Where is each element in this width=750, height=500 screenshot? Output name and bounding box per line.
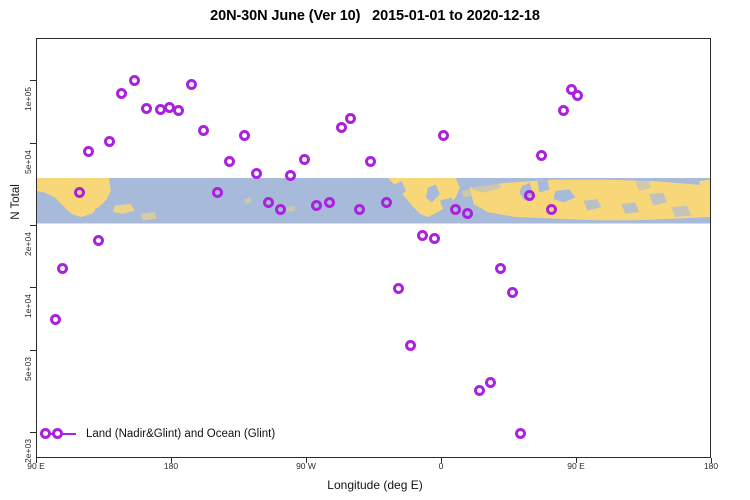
data-point	[524, 190, 535, 201]
data-point	[405, 340, 416, 351]
data-point	[336, 122, 347, 133]
data-point	[507, 287, 518, 298]
legend-label: Land (Nadir&Glint) and Ocean (Glint)	[86, 428, 275, 440]
figure-canvas: 20N-30N June (Ver 10) 2015-01-01 to 2020…	[0, 0, 750, 500]
data-point	[558, 105, 569, 116]
data-point	[50, 314, 61, 325]
x-tick-label: 0	[439, 461, 444, 471]
y-axis-label: N Total	[10, 162, 22, 242]
x-tick-label: 90 E	[27, 461, 45, 471]
data-point	[572, 90, 583, 101]
data-point	[104, 136, 115, 147]
x-tick-label: 180	[164, 461, 178, 471]
data-point	[495, 263, 506, 274]
world-map-svg	[37, 178, 710, 224]
data-point	[212, 187, 223, 198]
data-point	[345, 113, 356, 124]
data-point	[57, 263, 68, 274]
data-point	[74, 187, 85, 198]
data-point	[251, 168, 262, 179]
data-point	[263, 197, 274, 208]
x-tick-label: 90 W	[296, 461, 316, 471]
data-point	[417, 230, 428, 241]
world-map-band	[37, 178, 710, 224]
data-point	[462, 208, 473, 219]
data-point	[129, 75, 140, 86]
legend-circle-icon	[52, 428, 63, 439]
data-point	[393, 283, 404, 294]
legend-marker-sample	[38, 427, 78, 441]
data-point	[275, 204, 286, 215]
data-point	[224, 156, 235, 167]
y-tick-label: 2e+04	[23, 224, 33, 264]
data-point	[93, 235, 104, 246]
data-point	[429, 233, 440, 244]
page-title: 20N-30N June (Ver 10) 2015-01-01 to 2020…	[0, 8, 750, 24]
data-point	[173, 105, 184, 116]
data-point	[324, 197, 335, 208]
plot-area	[36, 38, 711, 458]
y-tick-label: 1e+05	[23, 79, 33, 119]
data-point	[485, 377, 496, 388]
y-tick-label: 5e+03	[23, 349, 33, 389]
data-point	[515, 428, 526, 439]
chart-legend: Land (Nadir&Glint) and Ocean (Glint)	[38, 426, 275, 442]
x-axis-label: Longitude (deg E)	[0, 478, 750, 492]
y-tick-label: 1e+04	[23, 286, 33, 326]
data-point	[198, 125, 209, 136]
data-point	[239, 130, 250, 141]
data-point	[365, 156, 376, 167]
x-tick-label: 90 E	[567, 461, 585, 471]
data-point	[116, 88, 127, 99]
x-tick-label: 180	[704, 461, 718, 471]
legend-circle-icon	[40, 428, 51, 439]
data-point	[83, 146, 94, 157]
data-point	[474, 385, 485, 396]
data-point	[438, 130, 449, 141]
data-point	[381, 197, 392, 208]
data-point	[536, 150, 547, 161]
data-point	[186, 79, 197, 90]
data-point	[299, 154, 310, 165]
data-point	[311, 200, 322, 211]
y-tick-label: 5e+04	[23, 142, 33, 182]
data-point	[141, 103, 152, 114]
